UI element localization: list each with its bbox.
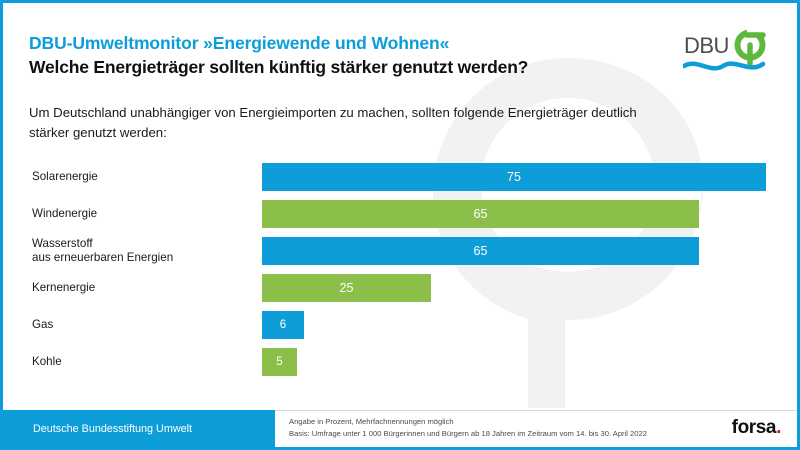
bar-value: 25 (340, 281, 354, 295)
bar-label: Kernenergie (32, 281, 254, 295)
bar-label: Solarenergie (32, 170, 254, 184)
chart-row: Wasserstoff aus erneuerbaren Energien 65 (3, 237, 800, 265)
bar-label-line1: Kohle (32, 355, 62, 368)
bar-value: 5 (276, 356, 282, 368)
chart-row: Kohle 5 (3, 348, 800, 376)
header: DBU-Umweltmonitor »Energiewende und Wohn… (3, 3, 797, 91)
bar-gas: 6 (262, 311, 304, 339)
chart-row: Windenergie 65 (3, 200, 800, 228)
bar-label-line1: Kernenergie (32, 281, 95, 294)
chart-row: Kernenergie 25 (3, 274, 800, 302)
footer: Deutsche Bundesstiftung Umwelt Angabe in… (3, 405, 800, 447)
footnote-line-2: Basis: Umfrage unter 1 000 Bürgerinnen u… (289, 428, 647, 440)
bar-value: 65 (474, 207, 488, 221)
infographic-poster: DBU-Umweltmonitor »Energiewende und Wohn… (0, 0, 800, 450)
bar-value: 75 (507, 170, 521, 184)
bar-solarenergie: 75 (262, 163, 766, 191)
bar-label-line1: Solarenergie (32, 170, 98, 183)
page-title: Welche Energieträger sollten künftig stä… (29, 57, 528, 78)
chart-row: Solarenergie 75 (3, 163, 800, 191)
forsa-logo: forsa. (732, 417, 781, 439)
bar-wasserstoff: 65 (262, 237, 699, 265)
forsa-dot: . (776, 417, 781, 438)
bar-label-line2: aus erneuerbaren Energien (32, 251, 254, 265)
bar-windenergie: 65 (262, 200, 699, 228)
chart-row: Gas 6 (3, 311, 800, 339)
bar-kernenergie: 25 (262, 274, 431, 302)
organisation-band: Deutsche Bundesstiftung Umwelt (3, 410, 275, 447)
footer-divider (275, 410, 800, 411)
forsa-wordmark: forsa (732, 417, 776, 438)
bar-kohle: 5 (262, 348, 297, 376)
bar-label-line1: Windenergie (32, 207, 97, 220)
footnotes: Angabe in Prozent, Mehrfachnennungen mög… (289, 416, 647, 439)
svg-text:DBU: DBU (684, 33, 729, 58)
dbu-logo-icon: DBU (683, 27, 775, 75)
organisation-label: Deutsche Bundesstiftung Umwelt (33, 423, 192, 435)
bar-label: Kohle (32, 355, 254, 369)
bar-value: 65 (474, 244, 488, 258)
footnote-line-1: Angabe in Prozent, Mehrfachnennungen mög… (289, 416, 647, 428)
bar-label: Windenergie (32, 207, 254, 221)
bar-label-line1: Wasserstoff (32, 237, 93, 250)
bar-label: Wasserstoff aus erneuerbaren Energien (32, 237, 254, 265)
bar-label: Gas (32, 318, 254, 332)
kicker-text: DBU-Umweltmonitor »Energiewende und Wohn… (29, 33, 449, 54)
bar-value: 6 (280, 319, 286, 331)
bar-label-line1: Gas (32, 318, 53, 331)
intro-text: Um Deutschland unabhängiger von Energiei… (29, 103, 669, 143)
bar-chart: Solarenergie 75 Windenergie 65 Wassersto… (3, 163, 800, 393)
